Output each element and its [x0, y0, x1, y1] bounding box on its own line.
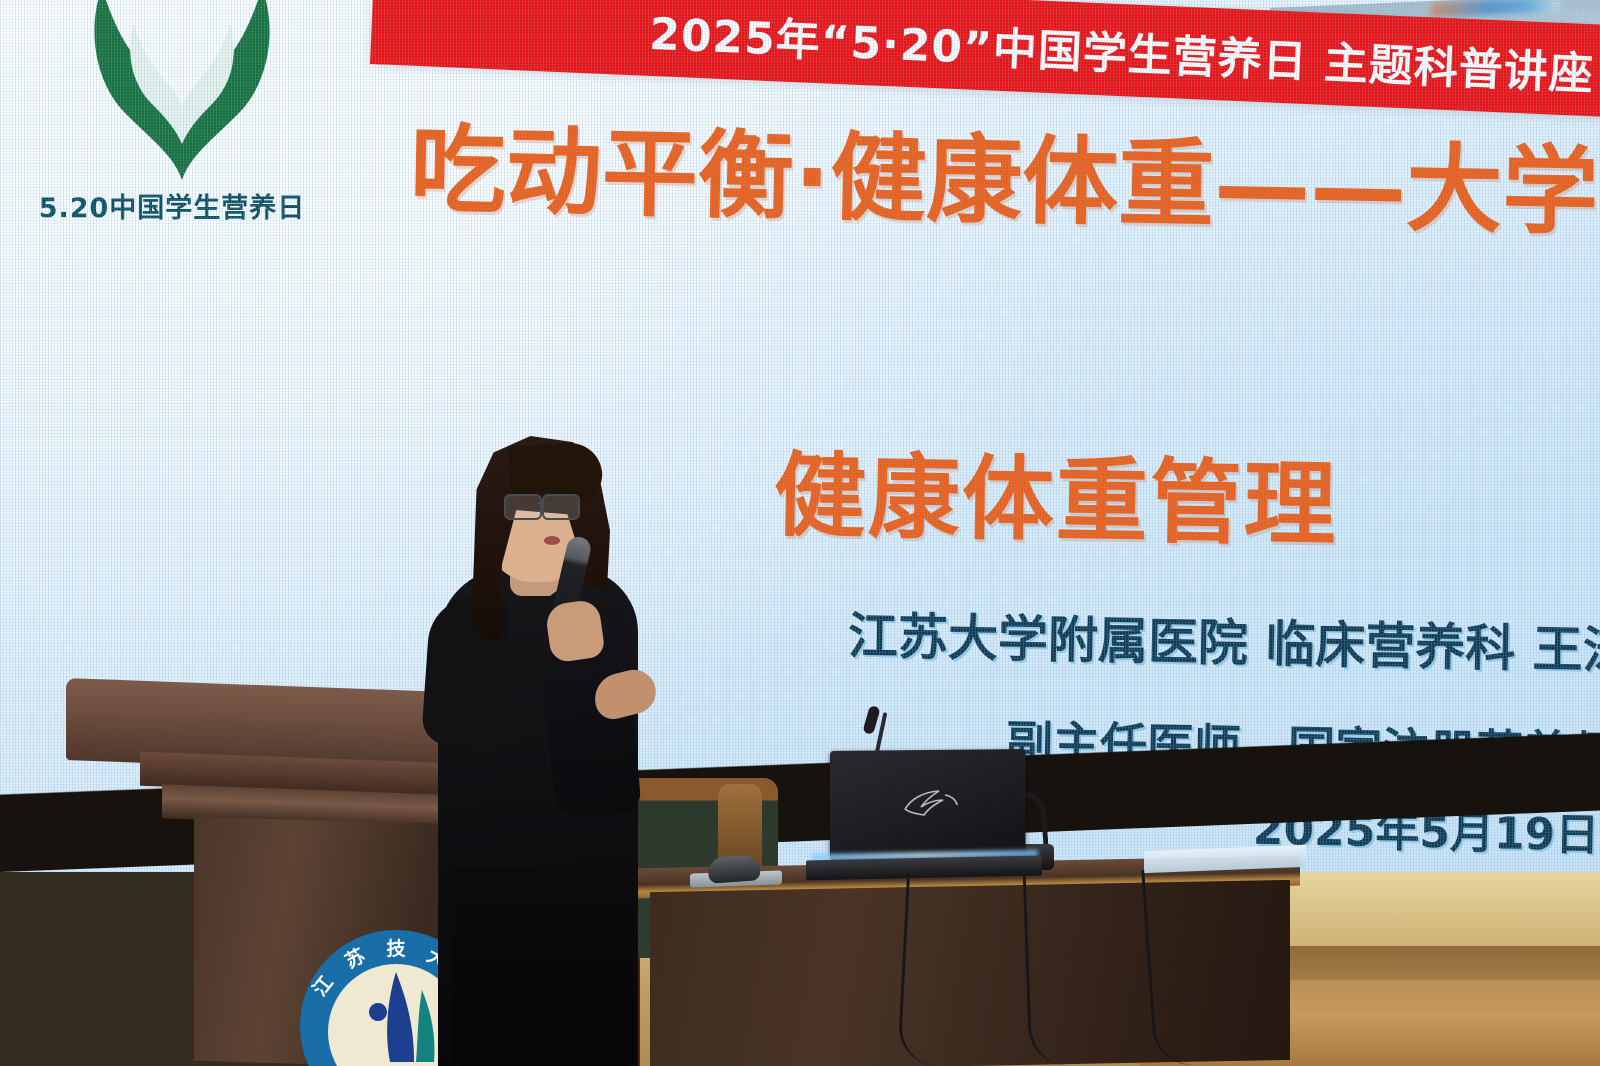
- glasses-right-lens-icon: [542, 494, 580, 520]
- glasses-left-lens-icon: [504, 494, 542, 520]
- lecture-photo: 5.20中国学生营养日 2025年“5·20”中国学生营养日 主题科普讲座 吃动…: [0, 0, 1600, 1066]
- computer-mouse[interactable]: [707, 854, 761, 884]
- presenter-hand-holding-mic: [544, 599, 606, 664]
- slide-affiliation: 江苏大学附属医院 临床营养科 王涛涛: [847, 596, 1600, 684]
- slide-title-line2: 健康体重管理: [773, 421, 1339, 564]
- presenter-mouth: [544, 536, 560, 545]
- rog-logo-icon: [901, 789, 959, 819]
- logo-caption: 5.20中国学生营养日: [22, 186, 322, 225]
- cable: [897, 872, 970, 1066]
- slide-title-line1: 吃动平衡·健康体重——大学生: [409, 92, 1600, 256]
- laptop[interactable]: [830, 749, 1026, 863]
- presenter-skirt: [452, 866, 634, 1066]
- presenter: [418, 436, 688, 1066]
- svg-text:技: 技: [386, 937, 406, 960]
- glasses-bridge: [538, 502, 544, 504]
- cable: [1023, 871, 1073, 1066]
